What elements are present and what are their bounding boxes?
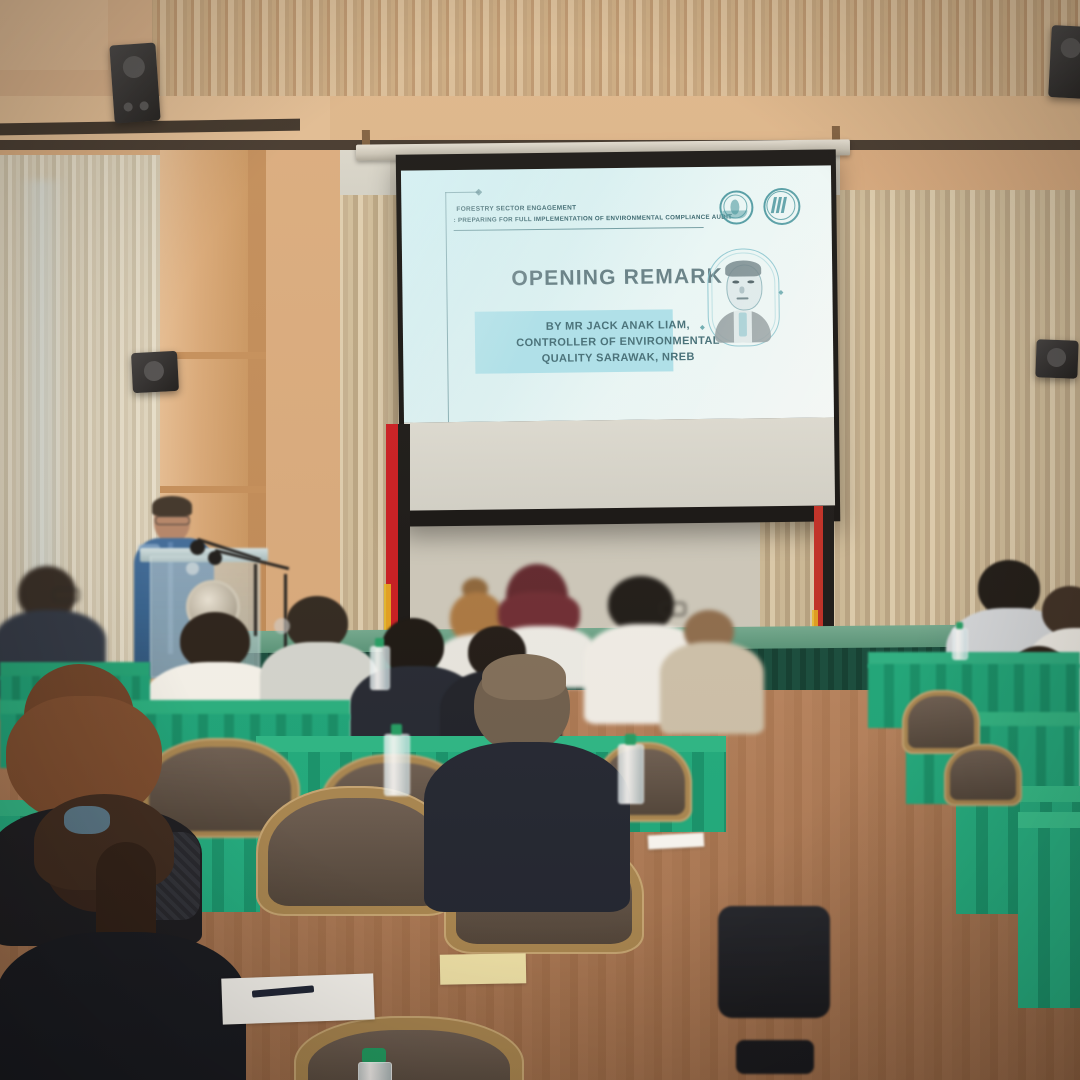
water-bottle-foreground[interactable] bbox=[358, 1048, 390, 1080]
wall-speaker-left bbox=[131, 351, 179, 393]
water-bottle[interactable] bbox=[618, 734, 642, 802]
wall-speaker-right bbox=[1035, 339, 1078, 378]
presenter-hair bbox=[152, 496, 192, 516]
presenter-glasses bbox=[155, 516, 190, 525]
slide-diamond-marker-top bbox=[475, 189, 482, 196]
slide-header-line-2: : PREPARING FOR FULL IMPLEMENTATION OF E… bbox=[454, 214, 733, 224]
chair-foreground bbox=[294, 1016, 524, 1080]
water-bottle[interactable] bbox=[370, 638, 388, 688]
water-bottle[interactable] bbox=[384, 724, 408, 794]
yellow-notepad[interactable] bbox=[440, 953, 527, 984]
nreb-logo bbox=[719, 190, 753, 224]
portrait-accent-dot-left bbox=[700, 325, 705, 330]
attendee-khaki-right bbox=[664, 610, 756, 722]
screen-blank-area bbox=[404, 417, 835, 510]
speaker-portrait bbox=[698, 238, 788, 367]
chair-right-mid-2 bbox=[944, 744, 1022, 806]
shoe bbox=[736, 1040, 814, 1074]
slide-corner-line-top bbox=[445, 192, 479, 193]
column-band bbox=[160, 486, 266, 493]
paper-sheet[interactable] bbox=[221, 973, 375, 1024]
sarawak-agency-logo bbox=[763, 188, 799, 224]
hair-scrunchie bbox=[64, 806, 110, 834]
water-bottle[interactable] bbox=[952, 622, 966, 658]
slide-corner-line-vertical bbox=[445, 192, 449, 423]
projection-screen: FORESTRY SECTOR ENGAGEMENT : PREPARING F… bbox=[396, 149, 841, 526]
attendee-back-left bbox=[0, 566, 100, 676]
conference-hall-photo: FORESTRY SECTOR ENGAGEMENT : PREPARING F… bbox=[0, 0, 1080, 1080]
projected-slide: FORESTRY SECTOR ENGAGEMENT : PREPARING F… bbox=[401, 165, 834, 422]
paper-sheet-mid[interactable] bbox=[648, 833, 705, 850]
table-drape-right-corner bbox=[1018, 828, 1080, 1008]
attendee-foreground-center bbox=[430, 658, 610, 888]
attendee-foreground-ponytail bbox=[0, 802, 230, 1080]
backpack[interactable] bbox=[718, 906, 830, 1018]
wall-speaker-top-left bbox=[109, 42, 160, 123]
ceiling-corner-panel bbox=[0, 0, 108, 70]
slide-header-underline bbox=[454, 227, 704, 231]
wall-speaker-top-right bbox=[1048, 25, 1080, 99]
slide-header-line-1: FORESTRY SECTOR ENGAGEMENT bbox=[456, 204, 576, 212]
